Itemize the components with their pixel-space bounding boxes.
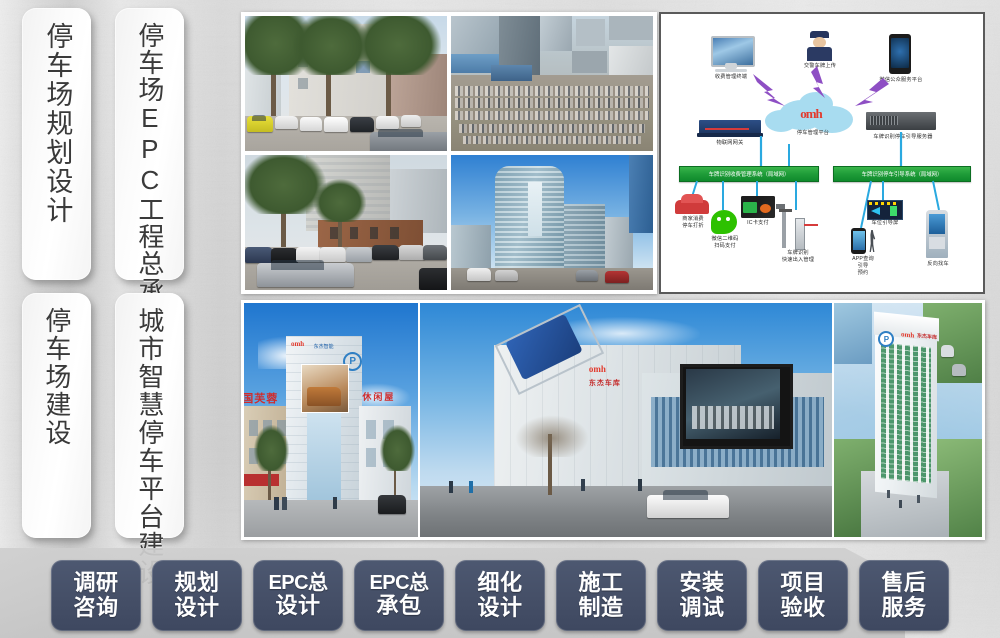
process-step-install-commission[interactable]: 安装 调试 bbox=[657, 560, 747, 631]
pedestrian bbox=[274, 497, 279, 510]
step-line-1: 安装 bbox=[679, 571, 724, 596]
brand-logo-omh: omh bbox=[901, 330, 914, 339]
sidebar-card-parking-construction[interactable]: 停车场建设 bbox=[22, 293, 91, 538]
ic-card-pay-label: IC卡支付 bbox=[737, 220, 779, 227]
pedestrian bbox=[899, 500, 902, 508]
step-line-2: 咨询 bbox=[73, 596, 118, 621]
ic-card-stripe bbox=[743, 202, 757, 213]
process-step-detailed-design[interactable]: 细化 设计 bbox=[455, 560, 545, 631]
brand-logo-omh: omh bbox=[291, 340, 304, 348]
step-line-1: 调研 bbox=[73, 571, 118, 596]
step-line-1: 售后 bbox=[881, 571, 926, 596]
step-line-2: 服务 bbox=[881, 596, 926, 621]
pedestrian bbox=[581, 479, 585, 491]
ic-card-chip bbox=[760, 204, 771, 213]
step-line-2: 调试 bbox=[679, 596, 724, 621]
led-sign-top bbox=[869, 202, 899, 205]
render-garage-facade: omh 东杰车库 P bbox=[420, 303, 832, 537]
step-line-1: 规划 bbox=[174, 571, 219, 596]
wechat-dot bbox=[726, 217, 730, 221]
photo-lot-brick-building bbox=[245, 155, 447, 290]
step-line-2: 设计 bbox=[477, 596, 522, 621]
photo-aerial-lot bbox=[451, 16, 653, 151]
wechat-qr-pay-label: 微信二维码 扫码支付 bbox=[699, 236, 751, 250]
brand-name: 东杰车库 bbox=[589, 378, 621, 388]
barrier-gate-reader bbox=[795, 218, 805, 250]
process-step-survey-consult[interactable]: 调研 咨询 bbox=[51, 560, 141, 631]
process-step-epc-contract[interactable]: EPC总 承包 bbox=[354, 560, 444, 631]
step-line-2: 设计 bbox=[174, 596, 219, 621]
mobile-app-screen bbox=[853, 231, 865, 250]
pedestrian bbox=[333, 497, 337, 509]
sidebar-card-label: 停车场规划设计 bbox=[41, 8, 73, 225]
pedestrian bbox=[282, 497, 287, 510]
step-line-2: 制造 bbox=[578, 596, 623, 621]
pedestrian bbox=[469, 481, 473, 493]
barrier-gate-cam bbox=[776, 204, 785, 209]
kiosk-screen bbox=[929, 214, 945, 234]
garage-renderings-panel: 国芙蓉 omh 东杰智能 P 休闲屋 bbox=[241, 300, 985, 540]
shop-sign-guofurong: 国芙蓉 bbox=[244, 390, 278, 406]
render-tower-garage-street: 国芙蓉 omh 东杰智能 P 休闲屋 bbox=[244, 303, 418, 537]
smart-parking-topology-panel: omh 停车管理平台 收费管理终端 交警车牌上传 微信公众服务平台 物联网网关 … bbox=[659, 12, 985, 294]
process-step-after-sales[interactable]: 售后 服务 bbox=[859, 560, 949, 631]
barrier-gate-arm bbox=[779, 209, 792, 212]
app-query-guidance-label: APP查询 引导 预约 bbox=[839, 256, 887, 277]
red-car-roof bbox=[681, 194, 703, 203]
sidebar-card-smart-city-parking-platform[interactable]: 城市智慧停车平台建设 bbox=[115, 293, 184, 538]
step-line-2: 承包 bbox=[376, 594, 421, 619]
process-steps-row: 调研 咨询 规划 设计 EPC总 设计 EPC总 承包 细化 设计 施工 制造 … bbox=[0, 560, 1000, 638]
process-step-epc-design[interactable]: EPC总 设计 bbox=[253, 560, 343, 631]
step-line-1: 施工 bbox=[578, 571, 623, 596]
wechat-dot bbox=[717, 217, 721, 221]
page-root: 停车场规划设计 停车场EPC工程总承包 停车场建设 城市智慧停车平台建设 bbox=[0, 0, 1000, 638]
pedestrian bbox=[917, 495, 920, 503]
step-line-2: 设计 bbox=[275, 594, 320, 619]
led-sign-count bbox=[890, 206, 897, 216]
space-guidance-screen-label: 车位引导屏 bbox=[857, 220, 913, 227]
sidebar-card-parking-epc-contract[interactable]: 停车场EPC工程总承包 bbox=[115, 8, 184, 280]
pedestrian bbox=[638, 479, 642, 491]
process-step-construction-manufacture[interactable]: 施工 制造 bbox=[556, 560, 646, 631]
sidebar-card-parking-planning-design[interactable]: 停车场规划设计 bbox=[22, 8, 91, 280]
step-line-1: EPC总 bbox=[369, 572, 428, 594]
merchant-discount-label: 商家消费 停车打折 bbox=[669, 216, 717, 230]
sidebar-card-label: 城市智慧停车平台建设 bbox=[134, 293, 165, 587]
sidebar-card-label: 停车场建设 bbox=[41, 293, 72, 447]
wechat-icon bbox=[711, 210, 737, 234]
sidebar-card-label: 停车场EPC工程总承包 bbox=[134, 8, 165, 331]
step-line-1: 项目 bbox=[780, 571, 825, 596]
plate-fast-entry-label: 车牌识别 快速出入管理 bbox=[765, 250, 831, 264]
brand-name: 东杰智能 bbox=[314, 343, 334, 350]
process-step-planning-design[interactable]: 规划 设计 bbox=[152, 560, 242, 631]
pedestrian bbox=[887, 490, 890, 498]
step-line-1: EPC总 bbox=[268, 572, 327, 594]
reverse-car-finding-label: 反向找车 bbox=[913, 261, 963, 268]
barrier-gate-icon bbox=[782, 210, 786, 248]
parking-site-photos-panel bbox=[241, 12, 657, 294]
pedestrian bbox=[449, 481, 453, 493]
step-line-2: 验收 bbox=[780, 596, 825, 621]
shop-sign-xiuxianwu: 休闲屋 bbox=[362, 390, 395, 403]
photo-lot-trees bbox=[245, 16, 447, 151]
kiosk-panel bbox=[929, 237, 945, 249]
render-tower-aerial: omh 东杰车库 P bbox=[834, 303, 982, 537]
process-step-project-acceptance[interactable]: 项目 验收 bbox=[758, 560, 848, 631]
photo-glass-tower bbox=[451, 155, 653, 290]
step-line-1: 细化 bbox=[477, 571, 522, 596]
barrier-gate-beam bbox=[804, 224, 818, 226]
